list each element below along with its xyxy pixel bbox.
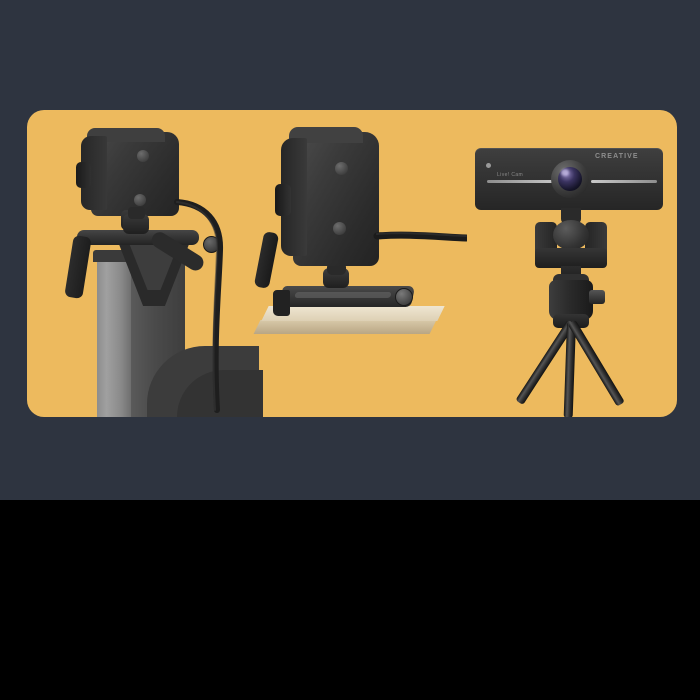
mounting-clip-hook	[64, 235, 91, 299]
tripod-mount-disc	[553, 220, 589, 250]
webcam-screw-upper	[137, 150, 149, 162]
desk-front-edge	[254, 320, 437, 334]
scene-webcam-on-desk	[237, 110, 467, 417]
clip-base-dial	[395, 288, 413, 306]
monitor-front-edge	[97, 258, 131, 417]
clip-ball-joint-top	[128, 207, 145, 219]
caption-panel: VERSATILITY IN PLACEMENT Coupled with a …	[0, 500, 700, 700]
product-feature-banner: Live! Cam CREATIVE	[0, 0, 700, 700]
mounting-clip-knob	[203, 236, 220, 253]
webcam-accent-strip-right	[591, 180, 657, 183]
webcam-brand-logo: CREATIVE	[595, 153, 639, 160]
scene-webcam-on-tripod: Live! Cam CREATIVE	[457, 110, 677, 417]
webcam-accent-strip-left	[487, 180, 559, 183]
desk-webcam-screw-lower	[333, 222, 346, 235]
product-photo-card: Live! Cam CREATIVE	[27, 110, 677, 417]
tripod-leg-right	[568, 320, 625, 407]
desk-webcam-screw-upper	[335, 162, 348, 175]
scene-webcam-on-monitor	[27, 110, 257, 417]
webcam-lens-housing	[76, 162, 91, 188]
tripod-lock-knob	[589, 290, 605, 304]
tripod-mount-bar	[535, 248, 607, 268]
desk-clip-arm	[254, 231, 279, 289]
status-led-icon	[486, 163, 491, 168]
desk-webcam-lens-housing	[275, 184, 291, 216]
webcam-screw-lower	[134, 194, 146, 206]
webcam-lens-glint	[561, 169, 569, 176]
clip-base-slot	[294, 292, 391, 298]
upper-slate-panel: Live! Cam CREATIVE	[0, 0, 700, 500]
webcam-model-label: Live! Cam	[497, 172, 523, 178]
clip-base-foot	[273, 290, 290, 316]
